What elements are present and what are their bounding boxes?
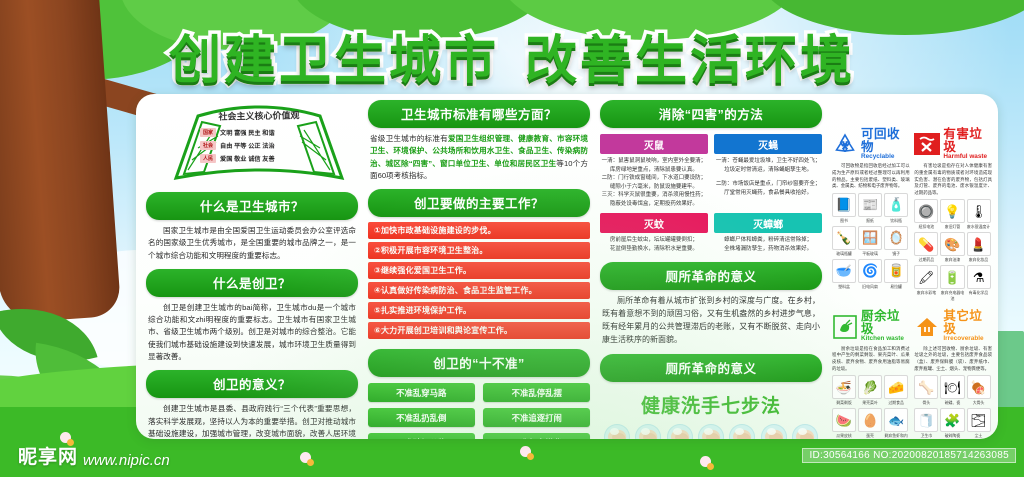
category-name-en: Recyclable — [861, 154, 910, 160]
waste-item-label: 玻璃瓶罐 — [832, 251, 856, 257]
category-logo: 厨余垃圾 Kitchen waste — [832, 310, 910, 342]
watermark-url: www.nipic.cn — [83, 452, 170, 469]
waste-item: 🖍废弃水彩笔 — [914, 265, 938, 302]
waste-item-icon: 🍾 — [836, 231, 852, 244]
waste-item-icon: 🪟 — [862, 231, 878, 244]
handwash-step: 第一步 掌心相对，手指并拢，相互揉搓洗手掌。 — [602, 424, 631, 439]
waste-item-label: 卫生巾 — [914, 433, 938, 439]
pest-line: 库房绿地是重点，清除鼠患要认真。 — [600, 166, 708, 175]
garbage-category-other: 其它垃圾 Irrecoverable 除上述可回收物、厨余垃圾、有害垃圾之外的垃… — [914, 310, 992, 439]
waste-item: 🍖大骨头 — [967, 375, 991, 406]
poster-canvas: 创建卫生城市改善生活环境 社会主义核心价值观 国家 文明 富强 民主 和谐 — [0, 0, 1024, 477]
waste-item-label: 破碎陶瓷 — [940, 433, 964, 439]
main-work-item: ②积极开展市容环境卫生整治。 — [368, 242, 590, 259]
category-logo: 其它垃圾 Irrecoverable — [914, 310, 992, 342]
category-name-zh: 厨余垃圾 — [861, 310, 910, 335]
waste-item-icon: 🧀 — [888, 381, 904, 394]
waste-item: 🧀过期食品 — [884, 375, 908, 406]
handwash-step-icon — [635, 424, 661, 439]
category-desc: 有害垃圾是指存在对人体健康有害的重金属有毒的物质或者对环境造成现实危害、潜在危害… — [914, 163, 992, 196]
waste-item: 🥚蛋壳 — [858, 408, 882, 439]
title-line-1: 创建卫生城市 — [169, 31, 499, 91]
waste-item: 🥬果壳菜叶 — [858, 375, 882, 406]
handwash-step: 第六步 将一手五指尖并拢在另一手掌心旋转揉搓，洗指尖。 — [759, 424, 788, 439]
pest-line: 三灭：科学灭鼠很重要，消杀须用慢性药； — [600, 191, 708, 200]
dont-item: 不准乱扔乱倒 — [368, 408, 475, 427]
category-name: 厨余垃圾 Kitchen waste — [861, 310, 910, 342]
category-name-zh: 可回收物 — [861, 128, 910, 153]
waste-item-icon: 🎨 — [944, 238, 960, 251]
waste-item-label: 过期药品 — [914, 257, 938, 263]
section-heading-ten-donts: 创卫的“十不准” — [368, 349, 590, 377]
waste-item: ⚗有毒化学品 — [967, 265, 991, 302]
standards-prefix: 省级卫生城市的标准有 — [370, 134, 448, 143]
waste-item-icon: 🖍 — [918, 271, 935, 284]
column-garbage-sorting: . 可回收物 Recyclable 可回收物是指回收后经过加工可以成为生产原料或… — [832, 100, 992, 439]
category-name-zh: 有害垃圾 — [943, 128, 992, 153]
waste-item-label: 废弃水彩笔 — [914, 290, 938, 296]
section-heading-standards: 卫生城市标准有哪些方面？ — [368, 100, 590, 128]
waste-item-label: 尘土 — [967, 433, 991, 439]
waste-item-label: 废弃充电器电池 — [940, 290, 964, 302]
waste-item-icon: 🥣 — [836, 264, 852, 277]
main-work-item: ⑤扎实推进环境保护工作。 — [368, 302, 590, 319]
category-items: 🦴骨头 🍽碗碟、瓷 🍖大骨头 🧻卫生巾 🧩破碎陶瓷 🌫尘土 — [914, 375, 992, 439]
category-desc: 除上述可回收物、厨余垃圾、有害垃圾之外的垃圾，主要包括废弃食品袋（盒）、废弃保鲜… — [914, 346, 992, 372]
waste-item-icon: ⚗ — [973, 271, 985, 284]
handwash-title: 健康洗手七步法 — [600, 391, 822, 418]
waste-item-icon: 🐟 — [888, 414, 904, 427]
handwash-step: 第五步 一手握另一手大拇指旋转揉搓，洗大拇指。 — [728, 424, 757, 439]
category-logo: 有害垃圾 Harmful waste — [914, 128, 992, 160]
waste-item: 🍾玻璃瓶罐 — [832, 226, 856, 257]
handwash-step-icon — [761, 424, 787, 439]
category-name: 可回收物 Recyclable — [861, 128, 910, 160]
handwash-steps: 第一步 掌心相对，手指并拢，相互揉搓洗手掌。 第二步 手心对手背，手指交叉，沿指… — [600, 424, 822, 439]
pest-desc: 蟑螂尸体和蟑粪，粉碎清运常除掉； 全株堵漏防孳生，药物消杀效果好。 — [714, 236, 822, 253]
waste-item-label: 有毒化学品 — [967, 290, 991, 296]
core-values-heading: 社会主义核心价值观 — [194, 108, 324, 123]
waste-item: 💄废弃化妆品 — [967, 232, 991, 263]
garbage-row-2: 厨余垃圾 Kitchen waste 厨余垃圾是指在食品加工和消费过程中产生的剩… — [832, 310, 992, 439]
waste-item: 🎨废弃油漆 — [940, 232, 964, 263]
waste-item-icon: 💄 — [970, 238, 986, 251]
main-work-item: ①加快市政基础设施建设的步伐。 — [368, 222, 590, 239]
pest-line: 隐蔽处设毒饵盒，定期投药效果好。 — [600, 200, 708, 209]
pest-line: 蟑螂尸体和蟑粪，粉碎清运常除掉； — [714, 236, 822, 245]
garbage-row-1: 可回收物 Recyclable 可回收物是指回收后经过加工可以成为生产原料或者经… — [832, 128, 992, 302]
waste-item: 📰报纸 — [858, 193, 882, 224]
pest-line: 厅堂常用灭蝇药，食品餐具收拾好。 — [714, 189, 822, 198]
main-work-item: ③继续强化爱国卫生工作。 — [368, 262, 590, 279]
waste-item-icon: 🥬 — [862, 381, 878, 394]
waste-item: 🪟平板玻璃 — [858, 226, 882, 257]
category-items: 📘图书 📰报纸 🧴饮料瓶 🍾玻璃瓶罐 🪟平板玻璃 🪞镜子 🥣塑料盆 🌀旧电风扇 … — [832, 193, 910, 290]
ten-donts-grid: 不准乱穿马路 不准乱停乱摆 不准乱扔乱倒 不准追逐打闹 不准破坏公物 不准勾肩搭… — [368, 383, 590, 439]
waste-item: 🥫易拉罐 — [884, 259, 908, 290]
title-line-2: 改善生活环境 — [525, 31, 855, 91]
image-id-badge: ID:30564166 NO:20200820185714263085 — [802, 448, 1016, 463]
waste-item-icon: 💊 — [918, 238, 934, 251]
category-logo: 可回收物 Recyclable — [832, 128, 910, 160]
recycle-icon — [832, 131, 858, 157]
category-name: 其它垃圾 Irrecoverable — [943, 310, 992, 342]
waste-item-label: 平板玻璃 — [858, 251, 882, 257]
pest-desc: 一清：鼠害鼠洞鼠吱响，室内室外全要清； 库房绿地是重点，清除鼠患要认真。 二防：… — [600, 157, 708, 208]
handwash-step: 第四步 弯曲各手指关节，相互揉搓洗指背。 — [696, 424, 725, 439]
pest-line: 垃圾定时常清运，清除蝇蛆孳生地。 — [714, 166, 822, 175]
waste-item-label: 纽扣电池 — [914, 224, 938, 230]
waste-item-label: 剩弃鱼虾和内脏 — [884, 433, 908, 439]
pest-box-cockroach: 灭蟑螂 蟑螂尸体和蟑粪，粉碎清运常除掉； 全株堵漏防孳生，药物消杀效果好。 — [714, 213, 822, 253]
category-desc: 可回收物是指回收后经过加工可以成为生产原料或者经过整理可以再利用的物品，主要包括… — [832, 163, 910, 189]
waste-item-label: 塑料盆 — [832, 284, 856, 290]
garbage-category-kitchen: 厨余垃圾 Kitchen waste 厨余垃圾是指在食品加工和消费过程中产生的剩… — [832, 310, 910, 439]
pest-desc: 房前屋后生蚊虫，坛坛罐罐要倒扣； 花盆倒垫勤换水，清除积水是重要。 — [600, 236, 708, 253]
pest-line: 二防：门行铁成窗缝间，下水道口要设防； — [600, 174, 708, 183]
waste-item: 🧴饮料瓶 — [884, 193, 908, 224]
pest-line: 全株堵漏防孳生，药物消杀效果好。 — [714, 245, 822, 254]
core-values-words: 文明 富强 民主 和谐 — [220, 128, 275, 137]
watermark: 昵享网 www.nipic.cn — [18, 442, 170, 469]
waste-item-label: 瓜果皮核 — [832, 433, 856, 439]
waste-item-icon: 🍖 — [970, 381, 986, 394]
garbage-category-recyclable: 可回收物 Recyclable 可回收物是指回收后经过加工可以成为生产原料或者经… — [832, 128, 910, 302]
watermark-site-name: 昵享网 — [18, 442, 78, 469]
waste-item-label: 剩菜剩饭 — [832, 400, 856, 406]
waste-item-label: 镜子 — [884, 251, 908, 257]
section-body-standards: 省级卫生城市的标准有爱国卫生组织管理、健康教育、市容环境卫生、环境保护、公共场所… — [370, 133, 588, 182]
waste-item-label: 废旧灯管 — [940, 224, 964, 230]
pest-line: 缝隙小于六毫米，防鼠设施要建牢。 — [600, 183, 708, 192]
waste-item-label: 废水银温度计 — [967, 224, 991, 230]
handwash-step: 第二步 手心对手背，手指交叉，沿指缝相互揉搓洗背侧。 — [633, 424, 662, 439]
handwash-step: 第七步 螺旋式洗手腕、洗臂部八。 — [791, 424, 820, 439]
section-body-significance: 创建卫生城市是县委、县政府践行“三个代表”重要思想，落实科学发展观，坚持以人为本… — [148, 403, 356, 439]
core-values-words: 自由 平等 公正 法治 — [220, 141, 275, 150]
category-name-zh: 其它垃圾 — [943, 310, 992, 335]
category-name-en: Harmful waste — [943, 154, 992, 160]
waste-item: 🪞镜子 — [884, 226, 908, 257]
waste-item-label: 旧电风扇 — [858, 284, 882, 290]
pest-title: 灭鼠 — [600, 134, 708, 154]
section-body-what-is-chuangwei: 创卫是创建卫生城市的bai简称，卫生城市du是一个城市综合功能和文zhi明程度的… — [148, 302, 356, 363]
waste-item-icon: 🍜 — [836, 381, 852, 394]
handwash-step-icon — [698, 424, 724, 439]
waste-item-icon: 💡 — [944, 205, 960, 218]
waste-item-icon: 🥫 — [888, 264, 904, 277]
waste-item: 🍜剩菜剩饭 — [832, 375, 856, 406]
pest-row-2: 灭蚊 房前屋后生蚊虫，坛坛罐罐要倒扣； 花盆倒垫勤换水，清除积水是重要。 灭蟑螂… — [600, 213, 822, 253]
main-work-item: ④认真做好传染病防治、食品卫生监管工作。 — [368, 282, 590, 299]
kitchen-waste-icon — [832, 314, 858, 340]
section-heading-toilet-revolution-1: 厕所革命的意义 — [600, 262, 822, 290]
waste-item: 🌫尘土 — [967, 408, 991, 439]
category-name-en: Irrecoverable — [943, 336, 992, 342]
waste-item: 💡废旧灯管 — [940, 199, 964, 230]
waste-item-label: 果壳菜叶 — [858, 400, 882, 406]
main-work-list: ①加快市政基础设施建设的步伐。 ②积极开展市容环境卫生整治。 ③继续强化爱国卫生… — [368, 222, 590, 339]
pest-line: 房前屋后生蚊虫，坛坛罐罐要倒扣； — [600, 236, 708, 245]
handwash-step-icon — [667, 424, 693, 439]
waste-item: 🍉瓜果皮核 — [832, 408, 856, 439]
category-desc: 厨余垃圾是指在食品加工和消费过程中产生的剩菜剩饭、果壳菜叶、瓜果皮核、废弃食物、… — [832, 346, 910, 372]
waste-item-icon: 🧴 — [888, 198, 904, 211]
waste-item-label: 易拉罐 — [884, 284, 908, 290]
waste-item-icon: 📰 — [862, 198, 878, 211]
pest-desc: 一清：苍蝇最爱垃圾堆，卫生不好四处飞； 垃圾定时常清运，清除蝇蛆孳生地。 二防：… — [714, 157, 822, 197]
pest-row-1: 灭鼠 一清：鼠害鼠洞鼠吱响，室内室外全要清； 库房绿地是重点，清除鼠患要认真。 … — [600, 134, 822, 208]
waste-item-icon: 🥚 — [862, 414, 878, 427]
pest-title: 灭蟑螂 — [714, 213, 822, 233]
waste-item-icon: 🍉 — [836, 414, 852, 427]
waste-item: 🌀旧电风扇 — [858, 259, 882, 290]
pest-box-fly: 灭蝇 一清：苍蝇最爱垃圾堆，卫生不好四处飞； 垃圾定时常清运，清除蝇蛆孳生地。 … — [714, 134, 822, 208]
pest-box-mosquito: 灭蚊 房前屋后生蚊虫，坛坛罐罐要倒扣； 花盆倒垫勤换水，清除积水是重要。 — [600, 213, 708, 253]
waste-item: 💊过期药品 — [914, 232, 938, 263]
dont-item: 不准乱停乱摆 — [483, 383, 590, 402]
harmful-waste-icon — [914, 131, 940, 157]
waste-item: 📘图书 — [832, 193, 856, 224]
category-name: 有害垃圾 Harmful waste — [943, 128, 992, 160]
section-heading-what-is-hygienic-city: 什么是卫生城市？ — [146, 192, 358, 220]
handwash-step-icon — [604, 424, 630, 439]
page-title: 创建卫生城市改善生活环境 — [0, 18, 1024, 93]
column-pests-toilets: 消除“四害”的方法 灭鼠 一清：鼠害鼠洞鼠吱响，室内室外全要清； 库房绿地是重点… — [600, 100, 822, 439]
waste-item-label: 过期食品 — [884, 400, 908, 406]
waste-item-label: 骨头 — [914, 400, 938, 406]
section-body-what-is-hygienic-city: 国家卫生城市是由全国爱国卫生运动委员会办公室评选命名的国家级卫生优秀城市，是全国… — [148, 225, 356, 262]
waste-item-label: 图书 — [832, 218, 856, 224]
pest-line: 一清：鼠害鼠洞鼠吱响，室内室外全要清； — [600, 157, 708, 166]
waste-item: 🥣塑料盆 — [832, 259, 856, 290]
core-values-fan: 社会主义核心价值观 国家 文明 富强 民主 和谐 社会 自由 平等 公正 法治 … — [164, 100, 354, 184]
waste-item-icon: 🌡 — [970, 205, 987, 218]
waste-item: 🧻卫生巾 — [914, 408, 938, 439]
core-values-tag: 人民 — [200, 154, 216, 163]
waste-item-icon: 🧩 — [944, 414, 960, 427]
other-waste-icon — [914, 314, 940, 340]
waste-item-icon: 🪞 — [888, 231, 904, 244]
dont-item: 不准破坏公物 — [368, 433, 475, 439]
waste-item-icon: 🦴 — [918, 381, 934, 394]
category-name-en: Kitchen waste — [861, 336, 910, 342]
handwash-step-icon — [792, 424, 818, 439]
waste-item-icon: 📘 — [836, 198, 852, 211]
section-heading-pests: 消除“四害”的方法 — [600, 100, 822, 128]
waste-item-label: 饮料瓶 — [884, 218, 908, 224]
main-work-item: ⑥大力开展创卫培训和舆论宣传工作。 — [368, 322, 590, 339]
section-body-toilet-revolution: 厕所革命有着从城市扩张到乡村的深度与广度。在乡村，既有着意想不到的顽固习俗，又有… — [602, 295, 820, 347]
waste-item: 🍽碗碟、瓷 — [940, 375, 964, 406]
section-heading-main-work: 创卫要做的主要工作？ — [368, 189, 590, 217]
content-board: 社会主义核心价值观 国家 文明 富强 民主 和谐 社会 自由 平等 公正 法治 … — [136, 94, 998, 439]
waste-item-label: 大骨头 — [967, 400, 991, 406]
handwash-step: 第三步 掌心相对，双手交叉，沿指缝相互揉搓洗掌侧指缝。 — [665, 424, 694, 439]
dont-item: 不准追逐打闹 — [483, 408, 590, 427]
dont-item: 不准乱穿马路 — [368, 383, 475, 402]
category-items: 🍜剩菜剩饭 🥬果壳菜叶 🧀过期食品 🍉瓜果皮核 🥚蛋壳 🐟剩弃鱼虾和内脏 — [832, 375, 910, 439]
section-heading-toilet-revolution-2: 厕所革命的意义 — [600, 354, 822, 382]
core-values-tag: 国家 — [200, 128, 216, 137]
waste-item-icon: 🔋 — [944, 271, 960, 284]
waste-item: 🐟剩弃鱼虾和内脏 — [884, 408, 908, 439]
category-items: 🔘纽扣电池 💡废旧灯管 🌡废水银温度计 💊过期药品 🎨废弃油漆 💄废弃化妆品 🖍… — [914, 199, 992, 302]
waste-item-icon: 🔘 — [918, 205, 934, 218]
pest-line: 花盆倒垫勤换水，清除积水是重要。 — [600, 245, 708, 254]
waste-item-icon: 🌫 — [970, 414, 987, 427]
garbage-category-harmful: 有害垃圾 Harmful waste 有害垃圾是指存在对人体健康有害的重金属有毒… — [914, 128, 992, 302]
waste-item-label: 蛋壳 — [858, 433, 882, 439]
section-heading-what-is-chuangwei: 什么是创卫？ — [146, 269, 358, 297]
pest-box-rat: 灭鼠 一清：鼠害鼠洞鼠吱响，室内室外全要清； 库房绿地是重点，清除鼠患要认真。 … — [600, 134, 708, 208]
waste-item-label: 废弃化妆品 — [967, 257, 991, 263]
pest-title: 灭蝇 — [714, 134, 822, 154]
pest-line: 一清：苍蝇最爱垃圾堆，卫生不好四处飞； — [714, 157, 822, 166]
waste-item-icon: 🌀 — [862, 264, 878, 277]
waste-item-icon: 🍽 — [944, 381, 961, 394]
waste-item-icon: 🧻 — [918, 414, 934, 427]
waste-item-label: 碗碟、瓷 — [940, 400, 964, 406]
core-values-tag: 社会 — [200, 141, 216, 150]
waste-item: 🦴骨头 — [914, 375, 938, 406]
waste-item-label: 报纸 — [858, 218, 882, 224]
waste-item-label: 废弃油漆 — [940, 257, 964, 263]
waste-item: 🔋废弃充电器电池 — [940, 265, 964, 302]
waste-item: 🌡废水银温度计 — [967, 199, 991, 230]
section-heading-significance: 创卫的意义？ — [146, 370, 358, 398]
pest-line: 二防：市场饭店是重点，门帘纱窗要齐全； — [714, 180, 822, 189]
handwash-step-icon — [729, 424, 755, 439]
waste-item: 🧩破碎陶瓷 — [940, 408, 964, 439]
pest-title: 灭蚊 — [600, 213, 708, 233]
column-about: 社会主义核心价值观 国家 文明 富强 民主 和谐 社会 自由 平等 公正 法治 … — [146, 94, 358, 439]
column-standards: 卫生城市标准有哪些方面？ 省级卫生城市的标准有爱国卫生组织管理、健康教育、市容环… — [368, 100, 590, 439]
core-values-words: 爱国 敬业 诚信 友善 — [220, 154, 275, 163]
waste-item: 🔘纽扣电池 — [914, 199, 938, 230]
dont-item: 不准勾肩搭背 — [483, 433, 590, 439]
